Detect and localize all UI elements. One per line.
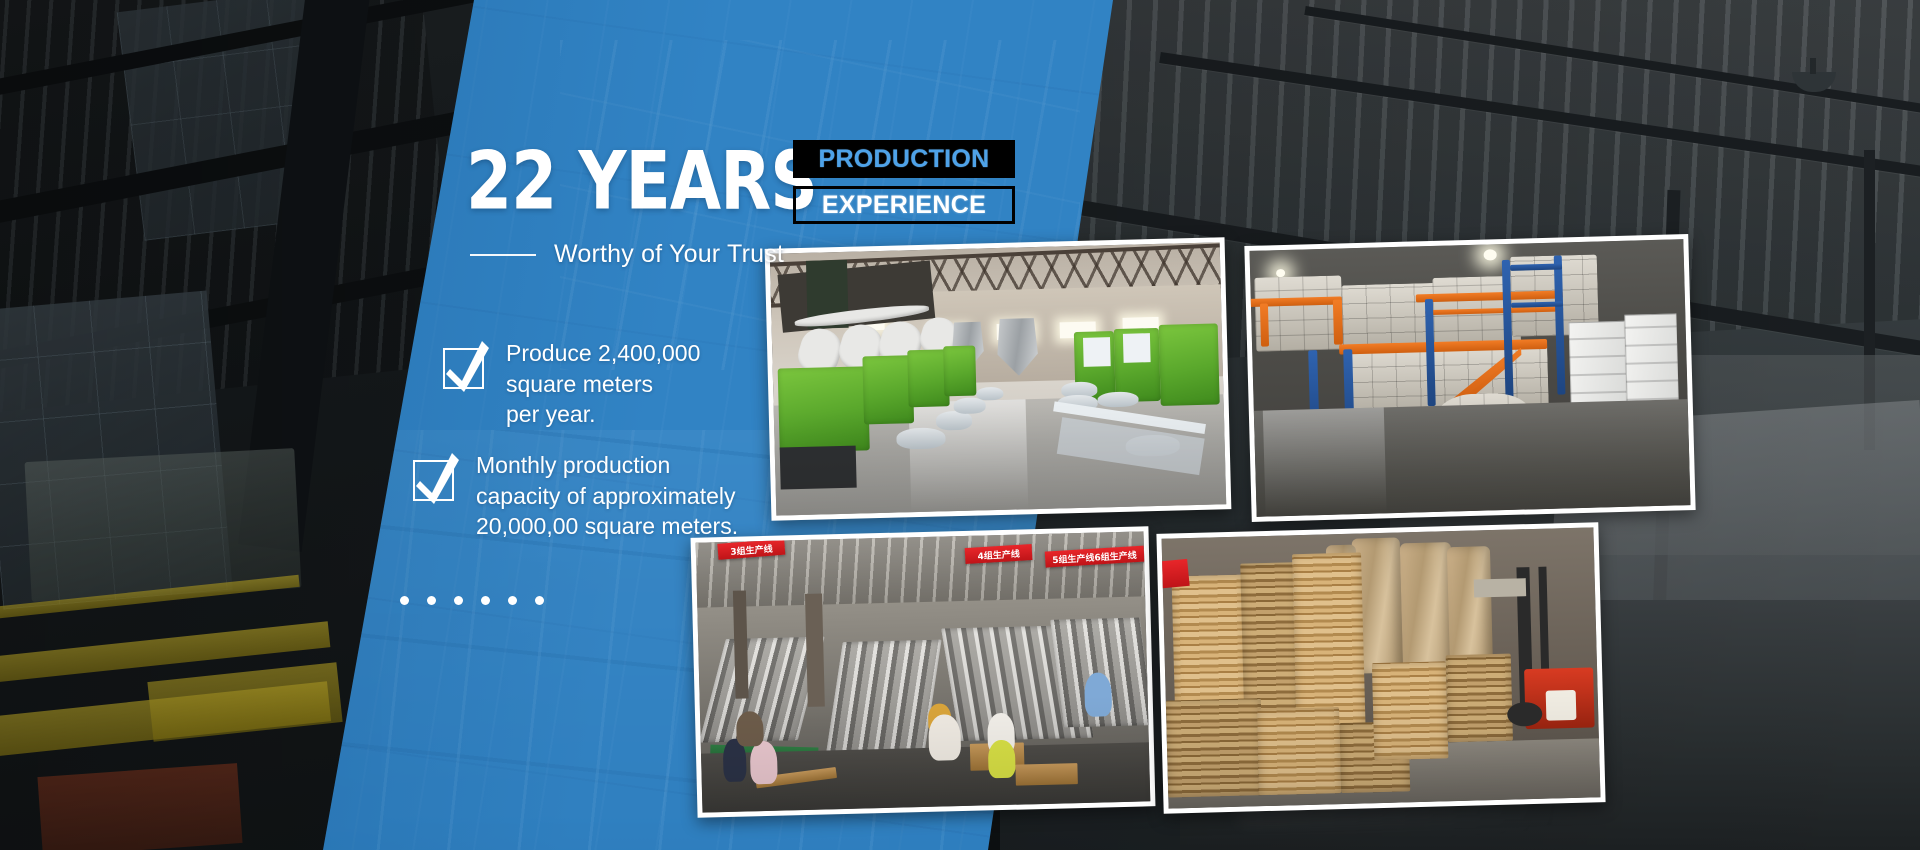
dot [454,596,463,605]
bullet-item-monthly-capacity: Monthly production capacity of approxima… [413,450,738,542]
tagline-text: Worthy of Your Trust [554,240,784,269]
badge-production: PRODUCTION [793,140,1015,178]
tagline-row: Worthy of Your Trust [470,240,784,269]
dot [400,596,409,605]
tagline-rule [470,254,536,256]
dot [508,596,517,605]
banner-content: 22 YEARS PRODUCTION EXPERIENCE Worthy of… [0,0,1920,850]
headline-years: 22 YEARS [466,140,817,221]
badge-group: PRODUCTION EXPERIENCE [793,140,1015,224]
dot [427,596,436,605]
bullet-text: Produce 2,400,000 square meters per year… [506,338,700,430]
checkbox-checked-icon [413,460,454,501]
bullet-text: Monthly production capacity of approxima… [476,450,738,542]
badge-experience: EXPERIENCE [793,186,1015,224]
bullet-item-production-volume: Produce 2,400,000 square meters per year… [443,338,700,430]
dot [535,596,544,605]
decorative-dots [400,596,544,605]
checkbox-checked-icon [443,348,484,389]
dot [481,596,490,605]
banner-stage: 3组生产线 4组生产线 5组生产线6组生产线 [0,0,1920,850]
